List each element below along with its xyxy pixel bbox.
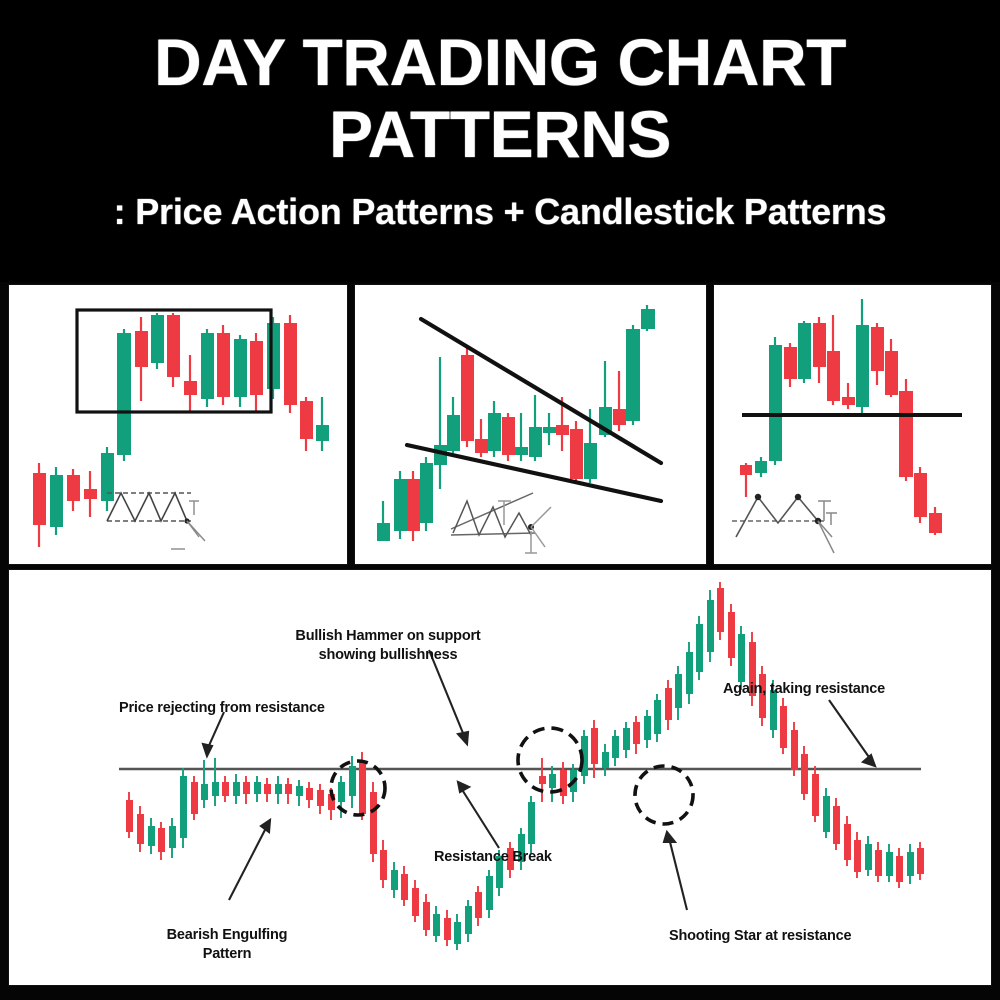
main-annotated-chart: Price rejecting from resistance Bullish … <box>8 569 992 986</box>
page-title-line-1: DAY TRADING CHART <box>154 26 846 98</box>
annotation-shooting-star: Shooting Star at resistance <box>669 927 899 946</box>
annotation-again-taking-resistance: Again, taking resistance <box>723 680 933 699</box>
annotation-price-rejecting: Price rejecting from resistance <box>119 699 369 718</box>
page-title-line-2: PATTERNS <box>329 98 671 170</box>
panel-2-chart <box>355 285 706 564</box>
annotation-resistance-break: Resistance Break <box>434 848 614 867</box>
double-top-schematic <box>732 494 837 553</box>
panel-1-chart <box>9 285 347 564</box>
panel-falling-wedge <box>354 284 707 565</box>
infographic-page: DAY TRADING CHART PATTERNS : Price Actio… <box>0 0 1000 1000</box>
annotation-bullish-hammer: Bullish Hammer on support showing bullis… <box>273 627 503 665</box>
panel-double-top <box>713 284 992 565</box>
page-subtitle: : Price Action Patterns + Candlestick Pa… <box>114 192 887 232</box>
main-candle-series-right <box>865 836 924 888</box>
panel-3-chart <box>714 285 991 564</box>
range-schematic <box>107 493 205 549</box>
candle-series <box>377 305 655 541</box>
wedge-schematic <box>451 493 551 553</box>
title-block: DAY TRADING CHART PATTERNS : Price Actio… <box>0 0 1000 282</box>
panel-range-breakdown <box>8 284 348 565</box>
pattern-panel-row <box>8 284 992 565</box>
annotation-bearish-engulfing: Bearish Engulfing Pattern <box>137 926 317 964</box>
